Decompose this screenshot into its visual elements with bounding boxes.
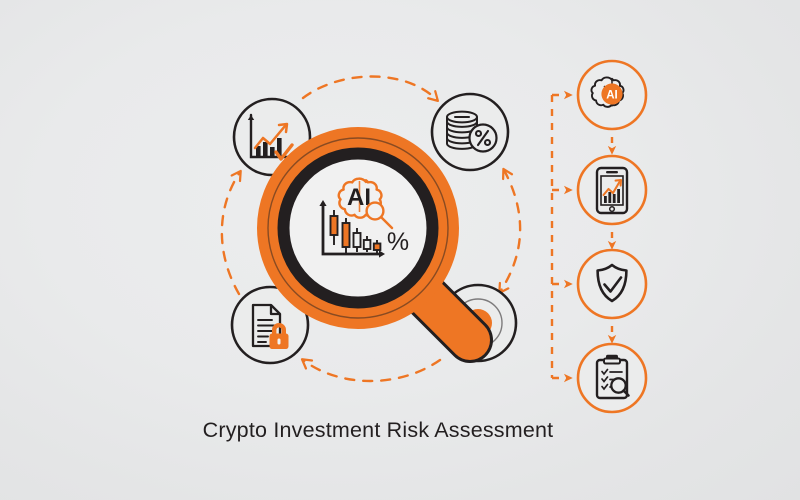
arc-chart-to-coins <box>303 77 437 101</box>
brain-ai-icon: AI <box>591 77 623 106</box>
pipeline-bus <box>552 95 570 378</box>
orbit-node-coins-percent[interactable] <box>432 94 508 170</box>
page-title-text: Crypto Investment Risk Assessment <box>203 418 554 443</box>
smartphone-chart-icon <box>597 168 627 213</box>
magnifier-inner-ring <box>284 154 433 303</box>
pipeline-step-ai-engine[interactable]: AI <box>578 61 646 129</box>
pipeline-step-risk-audit[interactable] <box>578 344 646 412</box>
pipeline-step-security-check[interactable] <box>578 250 646 318</box>
percent-symbol: % <box>387 228 409 256</box>
pipeline-ai-label: AI <box>606 90 618 102</box>
arc-document-to-chart <box>222 172 240 294</box>
clipboard-search-icon <box>597 355 629 398</box>
pipeline-step-mobile-analytics[interactable] <box>578 156 646 224</box>
illustration-canvas: AI % <box>0 0 800 500</box>
page-title: Crypto Investment Risk Assessment <box>0 418 800 443</box>
arc-target-to-document <box>303 360 440 381</box>
arc-coins-to-target <box>500 170 520 292</box>
